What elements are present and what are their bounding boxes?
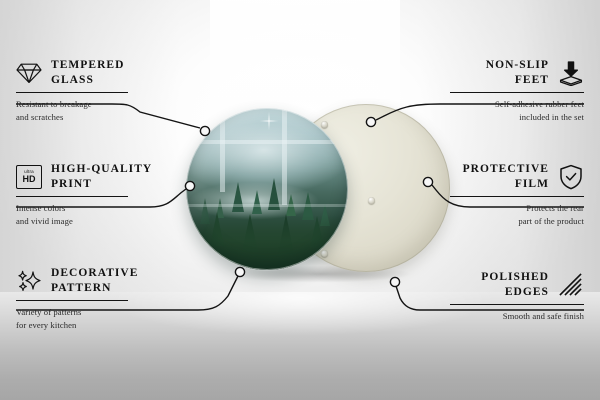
feature-desc-line: Protects the rear [384, 202, 584, 215]
connector-dot-non-slip-feet [366, 117, 375, 126]
feature-rule [16, 92, 128, 93]
feature-description: Self-adhesive rubber feet included in th… [384, 98, 584, 124]
shield-check-icon [558, 164, 584, 190]
feature-non-slip-feet: NON-SLIP FEET Self-adhesive rubber feet … [384, 58, 584, 124]
feature-desc-line: Self-adhesive rubber feet [384, 98, 584, 111]
feature-title-line: FILM [463, 177, 549, 192]
feature-desc-line: Intense colors [16, 202, 216, 215]
feature-rule [450, 304, 584, 305]
feature-desc-line: for every kitchen [16, 319, 216, 332]
feature-title: PROTECTIVE FILM [463, 162, 549, 192]
feature-polished-edges: POLISHED EDGES Smooth and safe finish [384, 270, 584, 323]
feature-title-line: DECORATIVE [51, 266, 138, 281]
feature-title-line: PATTERN [51, 281, 138, 296]
ultra-hd-badge: ultra HD [16, 165, 42, 189]
feature-title: HIGH-QUALITY PRINT [51, 162, 152, 192]
feature-title: NON-SLIP FEET [486, 58, 549, 88]
feature-title: DECORATIVE PATTERN [51, 266, 138, 296]
feature-high-quality-print: ultra HD HIGH-QUALITY PRINT Intense colo… [16, 162, 216, 228]
feature-title-line: HIGH-QUALITY [51, 162, 152, 177]
feature-title-line: EDGES [481, 285, 549, 300]
feature-rule [16, 196, 128, 197]
feature-desc-line: Variety of patterns [16, 306, 216, 319]
feature-header: TEMPERED GLASS [16, 58, 216, 88]
feature-desc-line: included in the set [384, 111, 584, 124]
feature-title: POLISHED EDGES [481, 270, 549, 300]
feature-rule [450, 92, 584, 93]
feature-rule [16, 300, 128, 301]
feature-title-line: NON-SLIP [486, 58, 549, 73]
feature-desc-line: and scratches [16, 111, 216, 124]
press-down-pad-icon [558, 60, 584, 86]
feature-header: PROTECTIVE FILM [384, 162, 584, 192]
feature-description: Resistant to breakage and scratches [16, 98, 216, 124]
feature-protective-film: PROTECTIVE FILM Protects the rear part o… [384, 162, 584, 228]
feature-description: Protects the rear part of the product [384, 202, 584, 228]
feature-header: POLISHED EDGES [384, 270, 584, 300]
feature-title: TEMPERED GLASS [51, 58, 124, 88]
feature-title-line: PRINT [51, 177, 152, 192]
feature-description: Intense colors and vivid image [16, 202, 216, 228]
connector-dot-decorative-pattern [235, 267, 244, 276]
connector-dot-tempered-glass [200, 126, 209, 135]
feature-header: DECORATIVE PATTERN [16, 266, 216, 296]
feature-desc-line: Resistant to breakage [16, 98, 216, 111]
feature-title-line: GLASS [51, 73, 124, 88]
feature-title-line: POLISHED [481, 270, 549, 285]
feature-title-line: PROTECTIVE [463, 162, 549, 177]
feature-desc-line: Smooth and safe finish [384, 310, 584, 323]
feature-desc-line: part of the product [384, 215, 584, 228]
ultra-hd-icon: ultra HD [16, 164, 42, 190]
infographic-canvas: TEMPERED GLASS Resistant to breakage and… [0, 0, 600, 400]
feature-header: NON-SLIP FEET [384, 58, 584, 88]
sparkles-icon [16, 268, 42, 294]
feature-title-line: TEMPERED [51, 58, 124, 73]
diamond-icon [16, 60, 42, 86]
feature-desc-line: and vivid image [16, 215, 216, 228]
feature-title-line: FEET [486, 73, 549, 88]
ultra-hd-large-text: HD [23, 175, 36, 184]
feature-description: Variety of patterns for every kitchen [16, 306, 216, 332]
feature-description: Smooth and safe finish [384, 310, 584, 323]
feature-decorative-pattern: DECORATIVE PATTERN Variety of patterns f… [16, 266, 216, 332]
feature-tempered-glass: TEMPERED GLASS Resistant to breakage and… [16, 58, 216, 124]
feature-header: ultra HD HIGH-QUALITY PRINT [16, 162, 216, 192]
feature-rule [450, 196, 584, 197]
diagonal-hatch-icon [558, 272, 584, 298]
